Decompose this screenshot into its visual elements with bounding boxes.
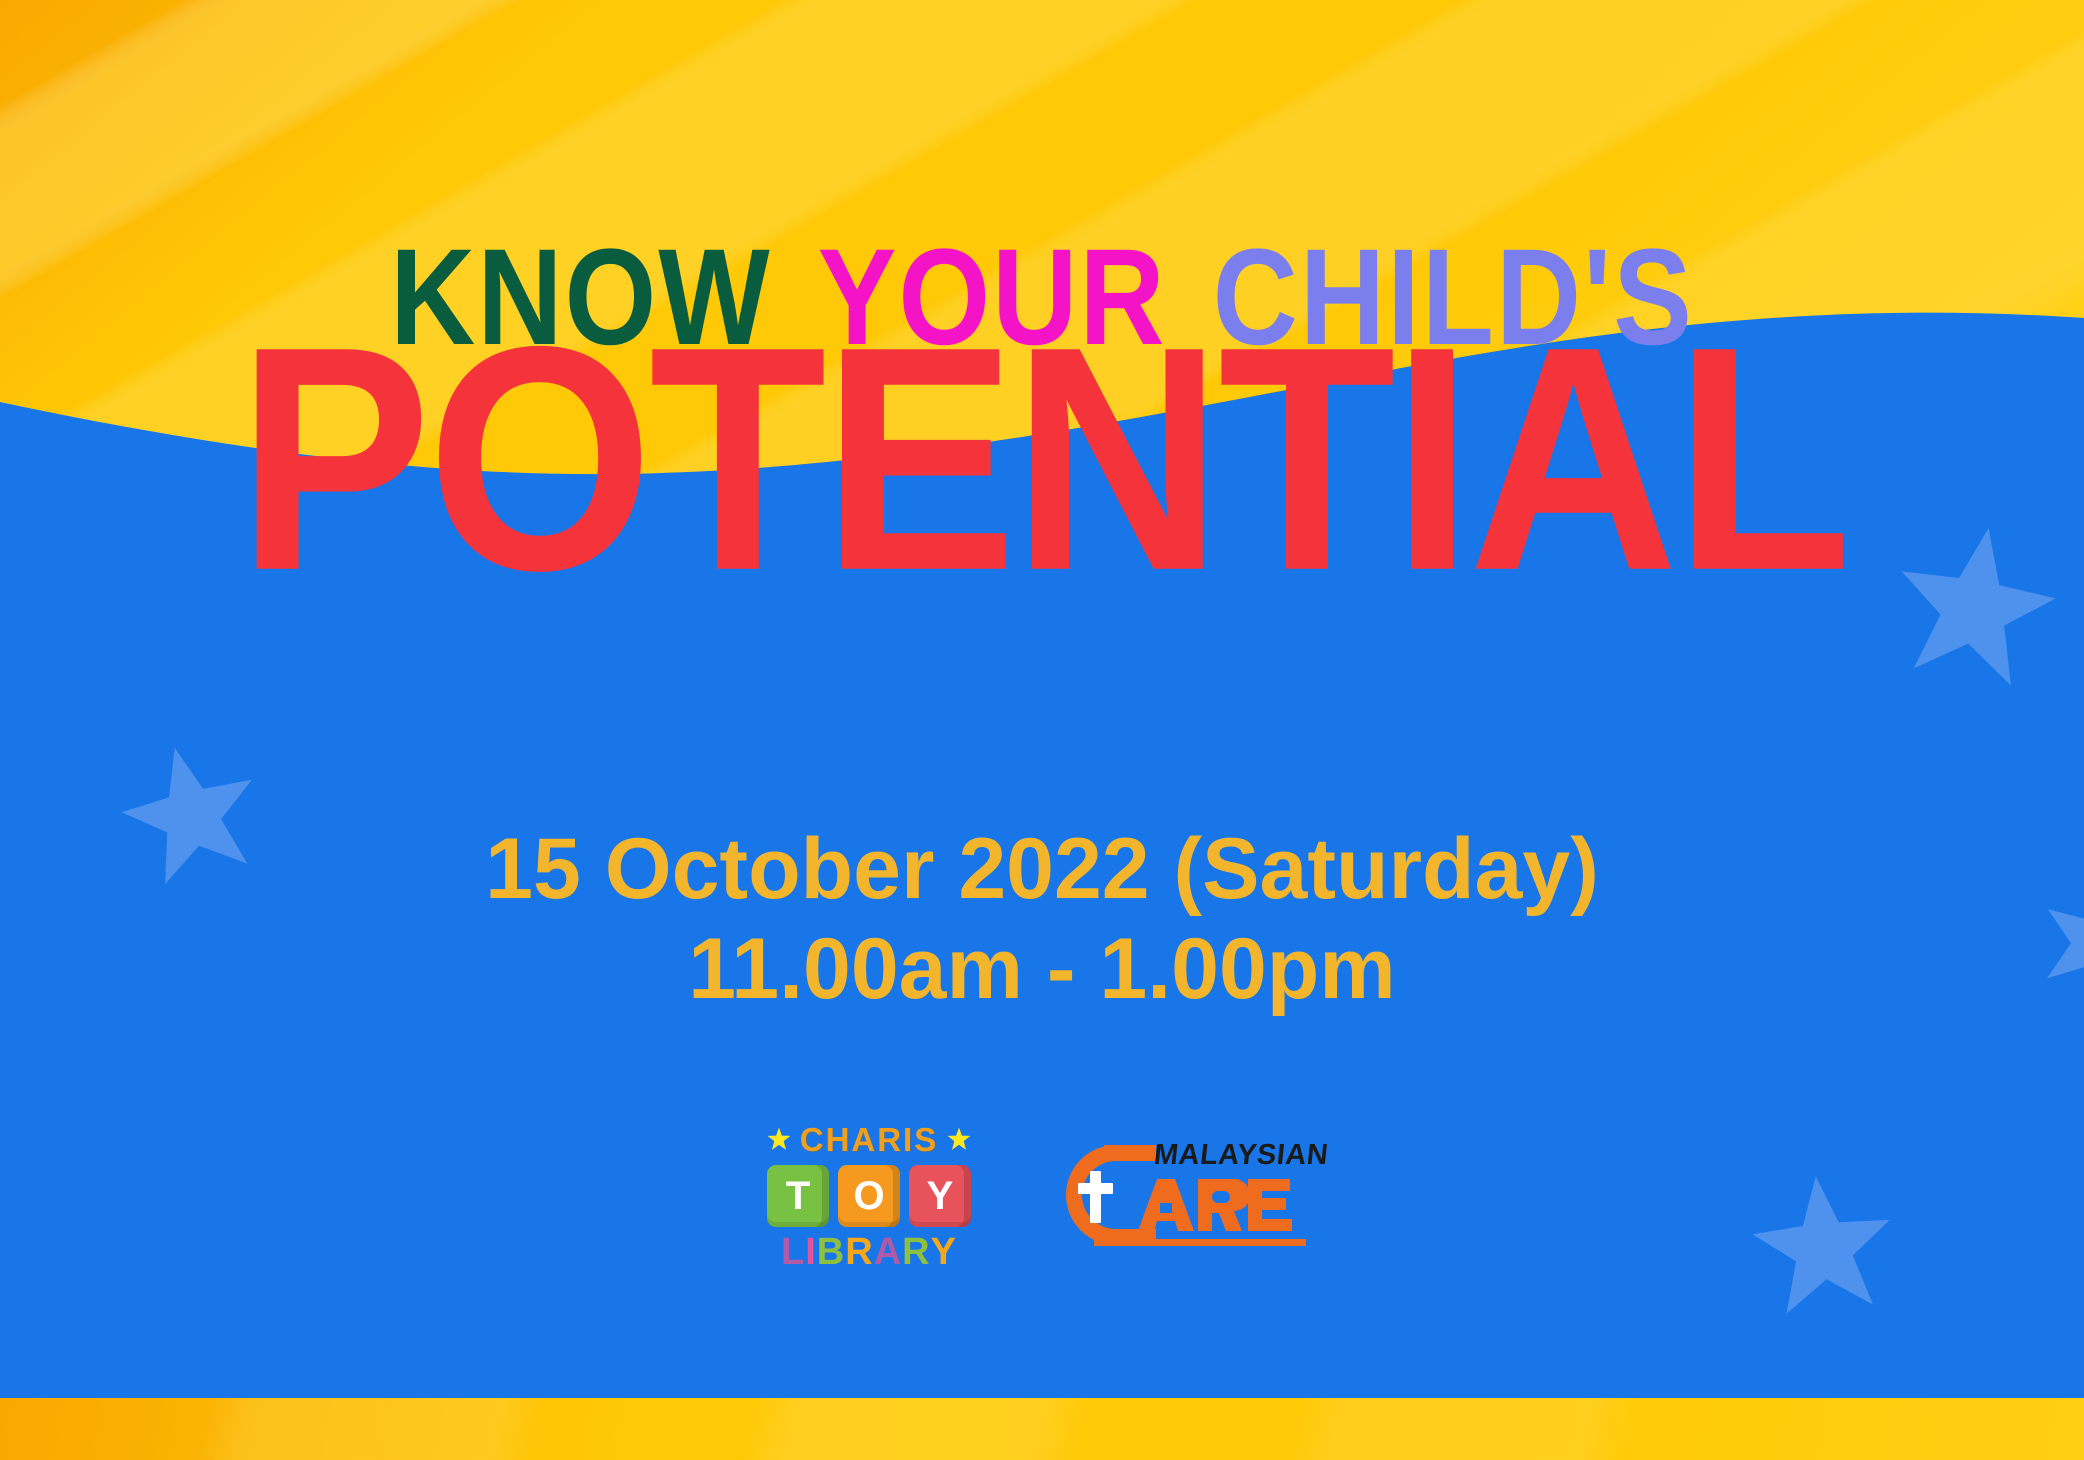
malaysian-care-logo: MALAYSIAN: [1042, 1135, 1334, 1255]
library-letter: A: [874, 1233, 902, 1271]
charis-toy-library-logo: CHARIS T O Y LIBRARY: [750, 1118, 988, 1271]
toy-blocks: T O Y: [767, 1165, 971, 1227]
library-letter: I: [805, 1233, 817, 1271]
background-yellow-wave: [0, 0, 2084, 600]
library-letter: L: [781, 1233, 805, 1271]
library-letter: Y: [931, 1233, 957, 1271]
care-tagline: MALAYSIAN: [1152, 1141, 1329, 1170]
library-letter: B: [817, 1233, 845, 1271]
background-bottom-bar: [0, 1398, 2084, 1460]
library-wordmark: LIBRARY: [781, 1233, 957, 1271]
charis-wordmark: CHARIS: [800, 1123, 939, 1156]
event-date: 15 October 2022 (Saturday): [0, 820, 2084, 920]
toy-block-t: T: [767, 1165, 829, 1227]
charis-star-icon: [946, 1126, 972, 1152]
wave-shape: [0, 0, 2084, 600]
library-letter: R: [902, 1233, 930, 1271]
logo-row: CHARIS T O Y LIBRARY: [0, 1118, 2084, 1271]
library-letter: R: [845, 1233, 873, 1271]
event-poster: KNOWYOURCHILD'S POTENTIAL 15 October 202…: [0, 0, 2084, 1460]
charis-star-icon: [766, 1126, 792, 1152]
charis-wordmark-row: CHARIS: [766, 1118, 973, 1160]
toy-block-o: O: [838, 1165, 900, 1227]
decorative-star-icon: [1890, 520, 2060, 690]
event-details: 15 October 2022 (Saturday) 11.00am - 1.0…: [0, 820, 2084, 1020]
event-time: 11.00am - 1.00pm: [0, 920, 2084, 1020]
toy-block-y: Y: [909, 1165, 971, 1227]
